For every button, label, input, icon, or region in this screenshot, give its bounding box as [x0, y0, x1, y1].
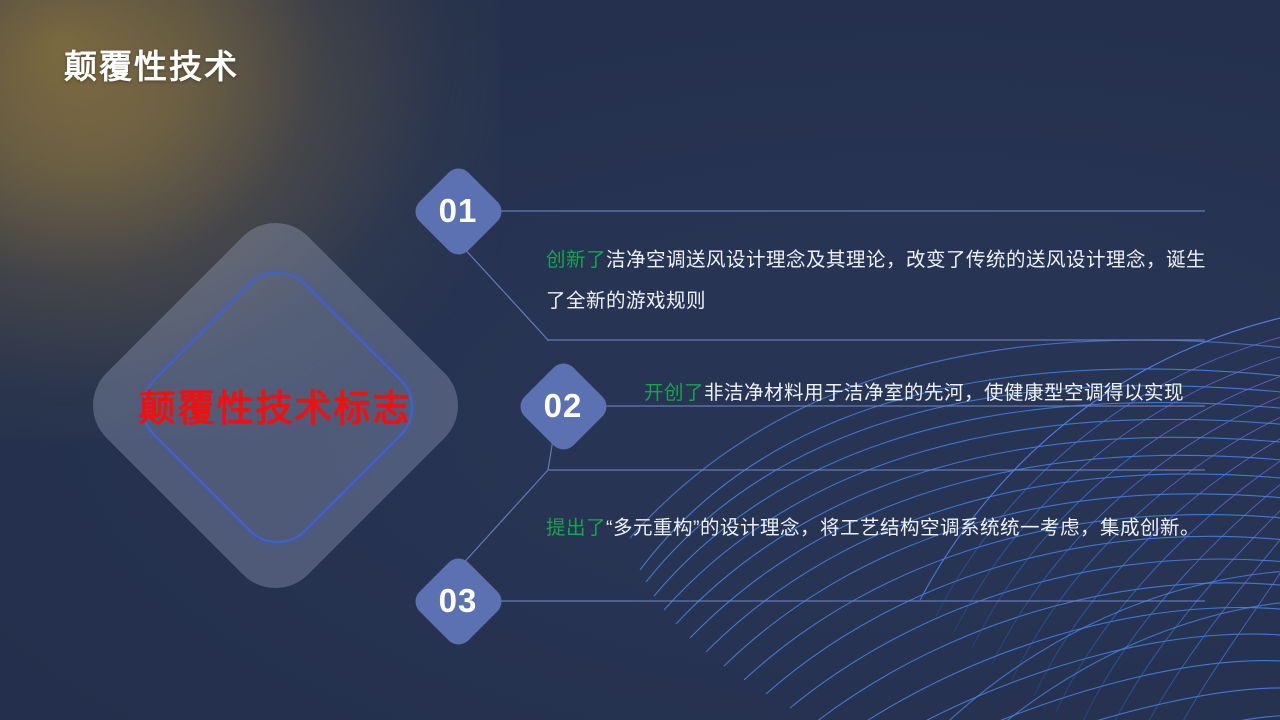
- item-text-01: 创新了洁净空调送风设计理念及其理论，改变了传统的送风设计理念，诞生了全新的游戏规…: [546, 240, 1212, 322]
- item-body-03: “多元重构”的设计理念，将工艺结构空调系统统一考虑，集成创新。: [606, 517, 1200, 539]
- slide-title: 颠覆性技术: [64, 40, 239, 88]
- item-lead-01: 创新了: [546, 249, 606, 271]
- center-diamond-label: 颠覆性技术标志: [73, 203, 477, 607]
- item-body-02: 非洁净材料用于洁净室的先河，使健康型空调得以实现: [704, 382, 1184, 404]
- badge-number-02: 02: [514, 371, 612, 441]
- badge-number-03: 03: [409, 566, 507, 636]
- badge-number-01: 01: [409, 176, 507, 246]
- item-lead-02: 开创了: [644, 382, 704, 404]
- item-text-02: 开创了非洁净材料用于洁净室的先河，使健康型空调得以实现: [644, 373, 1212, 414]
- slide-canvas: 颠覆性技术 颠覆性技术标志 01 02 03 创新了洁净空调送风设计理念及其理论…: [0, 0, 1280, 720]
- item-body-01: 洁净空调送风设计理念及其理论，改变了传统的送风设计理念，诞生了全新的游戏规则: [546, 249, 1206, 312]
- item-lead-03: 提出了: [546, 517, 606, 539]
- center-diamond: 颠覆性技术标志: [73, 203, 477, 607]
- item-text-03: 提出了“多元重构”的设计理念，将工艺结构空调系统统一考虑，集成创新。: [546, 508, 1212, 549]
